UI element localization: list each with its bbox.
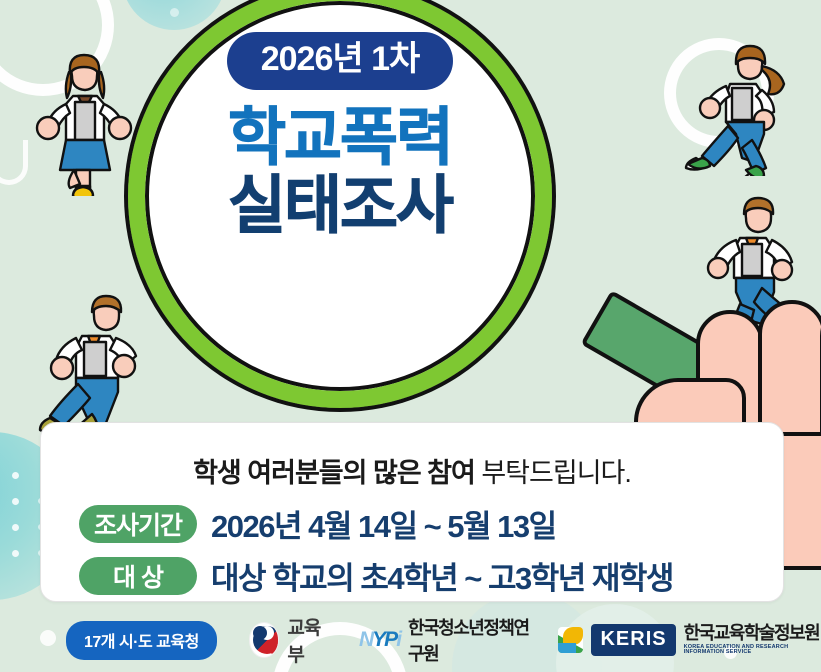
decor-dot [12,524,19,531]
appeal-text: 학생 여러분들의 많은 참여 부탁드립니다. [41,451,783,490]
decor-dot [12,498,19,505]
poster: 2026년 1차 학교폭력 실태조사 학생 여러분들의 많은 참여 부탁드립니다… [0,0,821,672]
logo-nypi: NYPi 한국청소년정책연구원 [359,614,530,666]
info-card: 학생 여러분들의 많은 참여 부탁드립니다. 조사기간 2026년 4월 14일… [40,422,784,602]
appeal-text-bold: 학생 여러분들의 많은 참여 [193,458,475,488]
keris-leaf-icon [558,627,583,653]
logo-ministry-of-education: 교육부 [249,613,329,667]
keris-label-en: KOREA EDUCATION AND RESEARCH INFORMATION… [684,645,821,657]
appeal-text-normal: 부탁드립니다. [475,458,631,488]
target-label-pill: 대 상 [79,557,197,595]
nypi-mark-icon: NYPi [359,628,400,652]
edition-badge: 2026년 1차 [227,32,454,90]
period-label-pill: 조사기간 [79,505,197,543]
period-value: 2026년 4월 14일 ~ 5월 13일 [211,501,556,546]
student-girl-running [676,40,804,176]
decor-dot [12,472,19,479]
keris-label-kr: 한국교육학술정보원 [684,624,821,643]
keris-mark: KERIS [591,624,675,656]
decor-dot [12,550,19,557]
info-row-target: 대 상 대상 학교의 초4학년 ~ 고3학년 재학생 [79,553,673,598]
title-line-1: 학교폭력 [228,104,452,172]
education-offices-pill: 17개 시·도 교육청 [66,621,217,660]
target-value: 대상 학교의 초4학년 ~ 고3학년 재학생 [211,553,673,598]
footer-logos: 17개 시·도 교육청 교육부 NYPi 한국청소년정책연구원 KERIS 한국… [0,608,821,672]
taegeuk-icon [249,622,280,658]
moe-label: 교육부 [287,613,329,667]
keris-label-block: 한국교육학술정보원 KOREA EDUCATION AND RESEARCH I… [684,624,821,656]
logo-keris: KERIS 한국교육학술정보원 KOREA EDUCATION AND RESE… [558,624,821,656]
decor-arc-left [0,140,28,185]
nypi-label: 한국청소년정책연구원 [408,614,530,666]
headline-block: 2026년 1차 학교폭력 실태조사 [128,0,552,408]
student-girl-cheering [28,46,140,196]
info-row-period: 조사기간 2026년 4월 14일 ~ 5월 13일 [79,501,556,546]
title-line-2: 실태조사 [228,172,452,240]
